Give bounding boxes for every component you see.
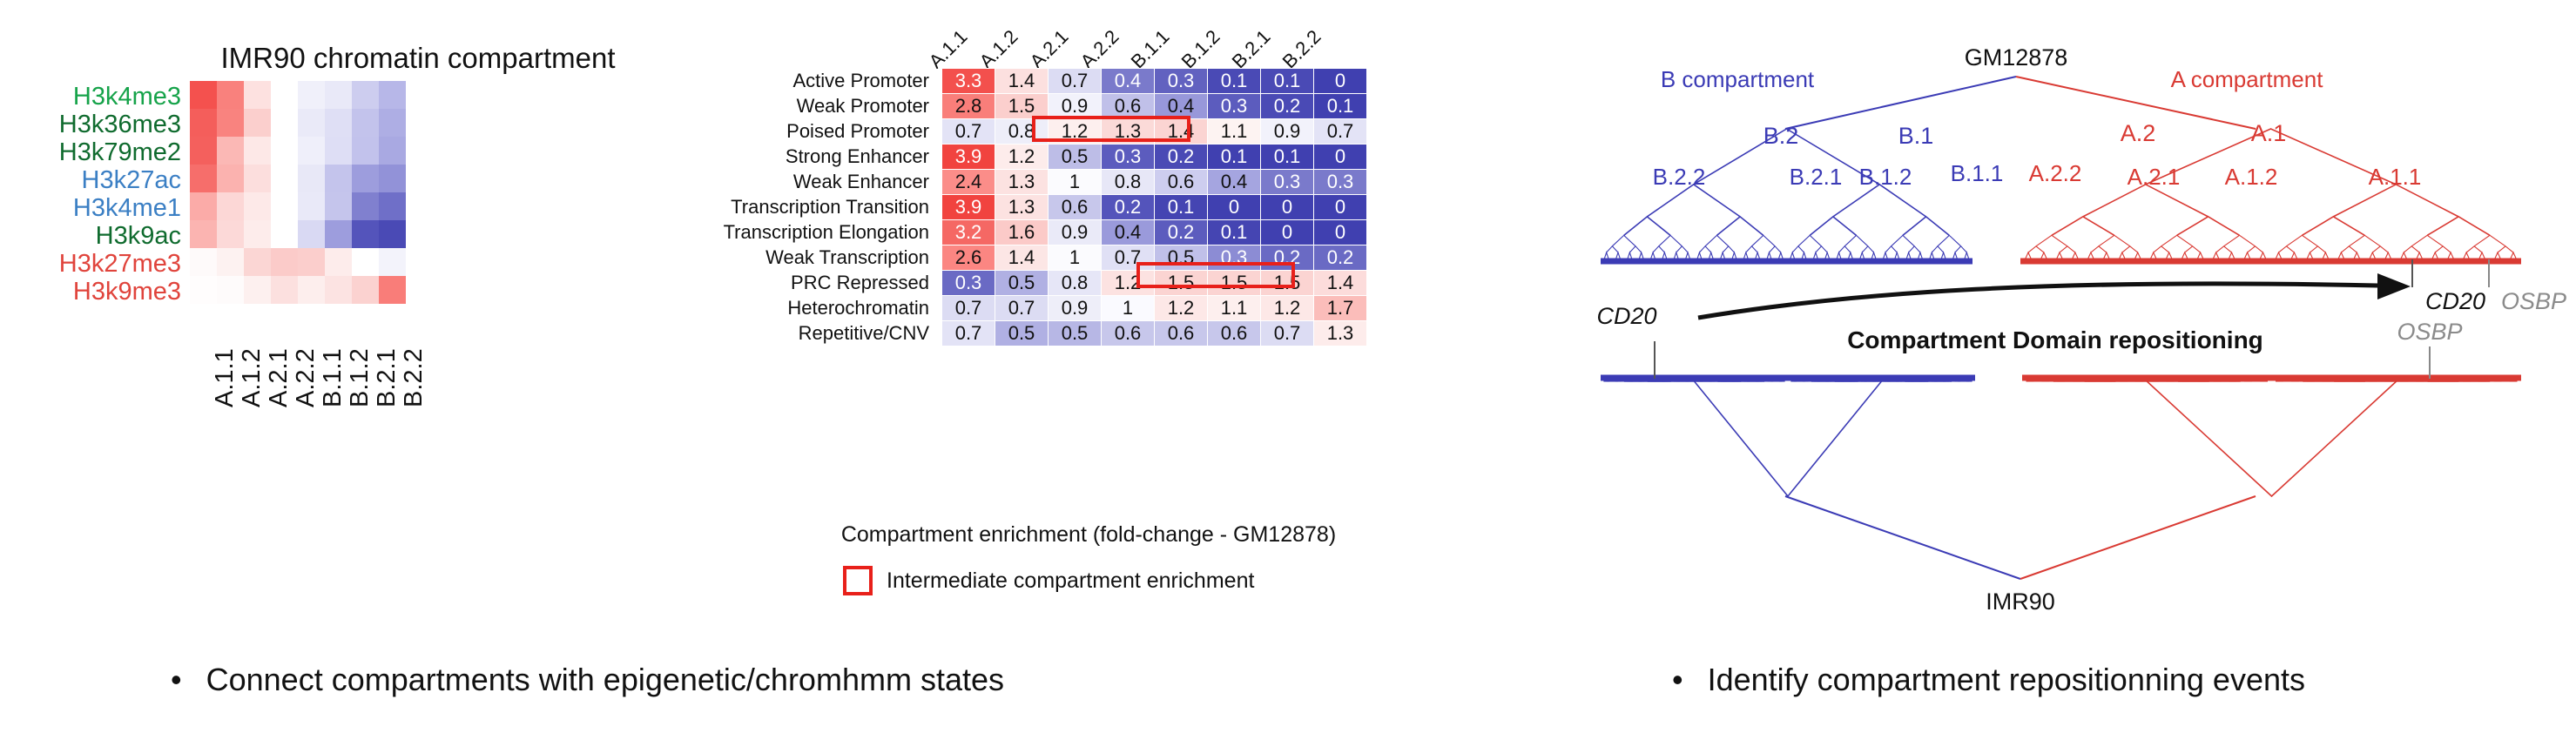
dendrogram-branch [2177,217,2240,235]
table-cell: 0.3 [942,271,995,296]
dendrogram-branch [1798,235,1822,245]
bullet-right-text: Identify compartment repositionning even… [1708,662,2305,698]
heatmap-cell [244,276,271,304]
dendrogram-branch [2278,246,2294,252]
bullet-left-text: Connect compartments with epigenetic/chr… [206,662,1004,698]
table-cell: 1.2 [1155,296,1208,321]
heatmap-col-label-b-1-2: B.1.2 [346,348,374,407]
heatmap-cell [379,220,406,248]
heatmap-cell [217,109,244,137]
node-label-a21: A.2.1 [2128,164,2181,190]
heatmap-cell [379,137,406,165]
table-cell: 0.6 [1102,321,1155,346]
node-label-b12: B.1.2 [1859,164,1912,190]
table-cell: 0.3 [1208,245,1261,271]
heatmap-cell [352,165,379,192]
dendrogram-branch [2154,246,2169,252]
dendrogram-branch [2224,235,2256,245]
dendrogram-branch [1938,235,1961,245]
heatmap-cell [379,248,406,276]
gene-label-osbp-bottom: OSBP [2397,319,2462,345]
heatmap-title: IMR90 chromatin compartment [157,42,679,75]
table-cell: 0.6 [1049,195,1102,220]
heatmap-cell [298,220,325,248]
table-cell: 0.3 [1314,170,1367,195]
repositioning-arrow-head [2377,273,2411,299]
table-row: Poised Promoter0.70.81.21.31.41.10.90.7 [688,119,1367,145]
heatmap-row-label-h3k4me1: H3k4me1 [73,194,181,223]
table-legend: Intermediate compartment enrichment [843,566,1254,595]
dendrogram-branch [2185,246,2201,252]
table-cell: 0 [1261,195,1314,220]
heatmap-cell [217,220,244,248]
table-row: Transcription Transition3.91.30.60.20.10… [688,195,1367,220]
table-cell: 0.7 [1261,321,1314,346]
table-row-label: PRC Repressed [688,271,942,296]
table-row: Weak Enhancer2.41.310.80.60.40.30.3 [688,170,1367,195]
heatmap-cell [325,248,352,276]
table-cell: 2.6 [942,245,995,271]
table-cell: 0.1 [1261,145,1314,170]
heatmap-row-labels: H3k4me3H3k36me3H3k79me2H3k27acH3k4me1H3k… [0,81,181,304]
gene-label-cd20-bottom: CD20 [1596,303,1656,329]
dendrogram-branch [2341,246,2357,252]
dendrogram-branch [1769,246,1780,252]
dendrogram-branch [2099,235,2130,245]
table-cell: 0 [1314,195,1367,220]
table-col-header-a-2-2: A.2.2 [1076,25,1124,73]
heatmap-cell [271,276,298,304]
compartment-enrichment-panel: A.1.1A.1.2A.2.1A.2.2B.1.1B.1.2B.2.1B.2.2… [688,0,1559,627]
table-cell: 0.4 [1102,220,1155,245]
epigenetic-heatmap-panel: IMR90 chromatin compartment H3k4me3H3k36… [0,0,688,627]
heatmap-cell [298,192,325,220]
node-label-a11: A.1.1 [2369,164,2422,190]
heatmap-cell [217,192,244,220]
table-cell: 0.2 [1102,195,1155,220]
heatmap-cell [298,109,325,137]
table-row: PRC Repressed0.30.50.81.21.51.51.51.4 [688,271,1367,296]
enrichment-table-body: Active Promoter3.31.40.70.40.30.10.10Wea… [688,69,1367,346]
table-cell: 0.2 [1314,245,1367,271]
table-cell: 0.4 [1155,94,1208,119]
dendrogram-branch [2411,235,2443,245]
heatmap-cell [352,137,379,165]
table-row-label: Repetitive/CNV [688,321,942,346]
dendrogram-branch [2060,246,2075,252]
table-cell: 3.2 [942,220,995,245]
heatmap-cell [352,220,379,248]
node-label-b2: B.2 [1763,123,1799,149]
table-cell: 0.6 [1155,321,1208,346]
heatmap-row-label-h3k27me3: H3k27me3 [59,250,181,279]
dendrogram-svg: GM12878 B compartment A compartment B.2 … [1568,0,2576,627]
table-cell: 0 [1314,145,1367,170]
table-col-header-a-2-1: A.2.1 [1026,25,1074,73]
dendrogram-branch [1705,235,1729,245]
heatmap-cell [352,81,379,109]
dendrogram-branch [1862,246,1873,252]
table-cell: 0.3 [1155,69,1208,94]
dendrogram-branch [2036,235,2067,245]
table-caption: Compartment enrichment (fold-change - GM… [697,522,1480,548]
heatmap-cell [271,165,298,192]
table-cell: 0.8 [995,119,1049,145]
legend-label: Intermediate compartment enrichment [887,568,1254,594]
node-label-b22: B.2.2 [1653,164,1706,190]
dendrogram-branch [1723,246,1734,252]
table-cell: 0.7 [942,119,995,145]
heatmap-cell [325,81,352,109]
heatmap-col-label-b-2-1: B.2.1 [373,348,401,407]
gene-label-cd20-top: CD20 [2425,288,2485,314]
table-cell: 0.7 [1102,245,1155,271]
table-cell: 1.2 [995,145,1049,170]
heatmap-cell [217,81,244,109]
dendrogram-branch [2216,246,2232,252]
table-row-label: Active Promoter [688,69,942,94]
table-cell: 0.9 [1049,94,1102,119]
dendrogram-branch [2248,246,2263,252]
table-cell: 0.6 [1102,94,1155,119]
heatmap-cell [244,109,271,137]
table-cell: 0.5 [1049,321,1102,346]
dendrogram-branch [1909,246,1920,252]
dendrogram-branch [1751,235,1775,245]
dendrogram-panel: GM12878 B compartment A compartment B.2 … [1568,0,2576,627]
table-cell: 0.9 [1049,220,1102,245]
table-row-label: Weak Promoter [688,94,942,119]
dendrogram-branch [1844,235,1868,245]
heatmap-cell [271,192,298,220]
dendrogram-branch [2349,235,2380,245]
dendrogram-branch [1699,246,1710,252]
dendrogram-branch [1716,217,1763,235]
dendrogram-branch [2372,246,2388,252]
heatmap-cell [352,109,379,137]
dendrogram-inverted-group [1603,381,2517,496]
heatmap-cell [244,248,271,276]
table-cell: 1.4 [1155,119,1208,145]
heatmap-cell [325,137,352,165]
table-cell: 0.2 [1261,245,1314,271]
table-cell: 1.3 [1314,321,1367,346]
dendrogram-branch [2466,246,2482,252]
node-label-b11: B.1.1 [1951,160,2004,186]
dendrogram-branch [1624,217,1670,235]
heatmap-row-label-h3k4me3: H3k4me3 [73,83,181,111]
table-cell: 0.7 [1049,69,1102,94]
enrichment-table: Active Promoter3.31.40.70.40.30.10.10Wea… [688,68,1367,346]
heatmap-row-label-h3k9me3: H3k9me3 [73,278,181,306]
table-row: Active Promoter3.31.40.70.40.30.10.10 [688,69,1367,94]
bullet-marker-icon: • [1672,664,1683,696]
table-cell: 1.5 [1261,271,1314,296]
table-cell: 0.9 [1261,119,1314,145]
dendrogram-branch [1676,246,1688,252]
heatmap-cell [325,220,352,248]
heatmap-cell [190,192,217,220]
heatmap-cell [244,137,271,165]
table-cell: 0.7 [942,296,995,321]
dendrogram-branch [2028,246,2044,252]
dendrogram-branch [1810,217,1856,235]
table-cell: 1.1 [1208,119,1261,145]
table-cell: 1 [1049,245,1102,271]
table-cell: 0.4 [1208,170,1261,195]
table-cell: 0.5 [995,271,1049,296]
dendrogram-branch [1746,246,1757,252]
table-cell: 0.5 [1155,245,1208,271]
heatmap-cell [325,109,352,137]
heatmap-column-labels: A.1.1A.1.2A.2.1A.2.2B.1.1B.1.2B.2.1B.2.2 [190,306,416,420]
table-cell: 0.7 [942,321,995,346]
table-cell: 0.1 [1155,195,1208,220]
bullet-left: • Connect compartments with epigenetic/c… [171,662,1004,698]
heatmap-row-label-h3k79me2: H3k79me2 [59,138,181,167]
table-cell: 2.8 [942,94,995,119]
gene-label-osbp-top: OSBP [2501,288,2566,314]
heatmap-cell [217,276,244,304]
table-cell: 0 [1314,220,1367,245]
table-column-headers: A.1.1A.1.2A.2.1A.2.2B.1.1B.1.2B.2.1B.2.2 [932,9,1498,61]
heatmap-row-label-h3k27ac: H3k27ac [82,166,181,195]
heatmap-cell [244,192,271,220]
node-label-b21: B.2.1 [1790,164,1843,190]
table-col-header-b-2-2: B.2.2 [1278,25,1326,73]
table-cell: 1.4 [995,69,1049,94]
dendrogram-branch [2435,246,2451,252]
table-cell: 1.2 [1049,119,1102,145]
table-row-label: Transcription Transition [688,195,942,220]
dendrogram-branch [1892,235,1915,245]
table-cell: 0 [1208,195,1261,220]
table-cell: 0 [1261,220,1314,245]
table-cell: 0.6 [1208,321,1261,346]
table-cell: 0.8 [1049,271,1102,296]
b-compartment-label: B compartment [1661,66,1815,92]
table-row-label: Poised Promoter [688,119,942,145]
heatmap-col-label-a-2-1: A.2.1 [265,348,293,407]
table-row-label: Weak Enhancer [688,170,942,195]
heatmap-cell [298,248,325,276]
dendrogram-branch [2474,235,2505,245]
table-row: Transcription Elongation3.21.60.90.40.20… [688,220,1367,245]
table-cell: 0.9 [1049,296,1102,321]
heatmap-cell [379,81,406,109]
node-label-a2: A.2 [2121,120,2156,146]
imr90-dendrogram [1601,378,2521,579]
table-row: Weak Promoter2.81.50.90.60.40.30.20.1 [688,94,1367,119]
heatmap-cell [379,109,406,137]
bullet-right: • Identify compartment repositionning ev… [1672,662,2305,698]
dendrogram-branch [1955,246,1966,252]
repositioning-arrow-path [1698,284,2377,318]
heatmap-cell [190,165,217,192]
dendrogram-branch [1607,246,1618,252]
table-cell: 1 [1102,296,1155,321]
table-cell: 3.9 [942,145,995,170]
table-cell: 0.2 [1155,220,1208,245]
imr90-root-label: IMR90 [1986,588,2055,615]
table-cell: 1.7 [1314,296,1367,321]
table-cell: 1.6 [995,220,1049,245]
heatmap-cell [217,248,244,276]
table-cell: 0.3 [1261,170,1314,195]
dendrogram-branch [2147,381,2397,496]
heatmap-cell [325,165,352,192]
repositioning-arrow-label: Compartment Domain repositioning [1847,326,2263,353]
a-compartment-label: A compartment [2171,66,2324,92]
table-cell: 2.4 [942,170,995,195]
table-cell: 0.2 [1261,94,1314,119]
gm12878-root-label: GM12878 [1965,44,2068,71]
table-cell: 1.3 [1102,119,1155,145]
node-label-a22: A.2.2 [2029,160,2082,186]
heatmap-cell [298,137,325,165]
heatmap-cell [244,81,271,109]
table-cell: 0.7 [1314,119,1367,145]
table-cell: 1.4 [995,245,1049,271]
dendrogram-branch [1885,246,1897,252]
dendrogram-branch [1839,246,1851,252]
dendrogram-branch [2404,246,2419,252]
dendrogram-branch [2286,235,2317,245]
dendrogram-branch [2498,246,2513,252]
dendrogram-branch [2122,246,2138,252]
heatmap-cell [244,165,271,192]
heatmap-cell [190,248,217,276]
table-cell: 0.3 [1102,145,1155,170]
bullet-marker-icon: • [171,664,182,696]
heatmap-cell [190,220,217,248]
heatmap-col-label-b-1-1: B.1.1 [319,348,347,407]
table-cell: 0.6 [1155,170,1208,195]
heatmap-cell [190,81,217,109]
node-label-b1: B.1 [1898,123,1934,149]
heatmap-col-label-a-1-1: A.1.1 [211,348,239,407]
heatmap-col-label-a-2-2: A.2.2 [292,348,320,407]
dendrogram-branch [1612,235,1635,245]
dendrogram-branch [1932,246,1943,252]
dendrogram-root-branch [2020,496,2256,579]
dendrogram-branch [2091,246,2107,252]
heatmap-col-label-a-1-2: A.1.2 [238,348,266,407]
dendrogram-branch [1629,246,1641,252]
table-cell: 0.7 [995,296,1049,321]
table-col-header-a-1-1: A.1.1 [925,25,973,73]
heatmap-cell [271,109,298,137]
heatmap-cell [217,137,244,165]
heatmap-cell [190,109,217,137]
dendrogram-branch [2161,235,2193,245]
heatmap-cell [217,165,244,192]
heatmap-col-label-b-2-2: B.2.2 [400,348,428,407]
table-cell: 0.1 [1208,220,1261,245]
heatmap-cell [190,137,217,165]
table-cell: 3.3 [942,69,995,94]
table-cell: 0.2 [1155,145,1208,170]
dendrogram-branch [1816,246,1827,252]
heatmap-row-label-h3k36me3: H3k36me3 [59,111,181,139]
heatmap-cell [325,192,352,220]
heatmap-cell [271,81,298,109]
heatmap-cell [271,137,298,165]
dendrogram-root-branch [1785,496,2020,579]
table-cell: 0.1 [1208,69,1261,94]
heatmap-cell [325,276,352,304]
node-label-a12: A.1.2 [2225,164,2278,190]
dendrogram-branch [2310,246,2325,252]
table-cell: 0.3 [1208,94,1261,119]
heatmap-grid-wrapper [190,81,406,304]
dendrogram-branch [1653,246,1664,252]
table-row-label: Heterochromatin [688,296,942,321]
heatmap-cell [298,165,325,192]
heatmap-cell [298,81,325,109]
table-cell: 1.5 [995,94,1049,119]
table-cell: 1 [1049,170,1102,195]
table-cell: 0.8 [1102,170,1155,195]
table-col-header-b-1-2: B.1.2 [1177,25,1225,73]
table-cell: 1.2 [1261,296,1314,321]
table-col-header-b-2-1: B.2.1 [1228,25,1276,73]
heatmap-cell [244,220,271,248]
dendrogram-branch [1792,246,1804,252]
table-cell: 1.5 [1155,271,1208,296]
table-row: Repetitive/CNV0.70.50.50.60.60.60.71.3 [688,321,1367,346]
dendrogram-branch [2427,217,2490,235]
table-cell: 1.4 [1314,271,1367,296]
heatmap-cell [271,220,298,248]
table-row-label: Strong Enhancer [688,145,942,170]
heatmap-cell [190,276,217,304]
table-row-label: Weak Transcription [688,245,942,271]
table-row-label: Transcription Elongation [688,220,942,245]
table-cell: 0.1 [1314,94,1367,119]
table-cell: 1.3 [995,170,1049,195]
heatmap-cell [379,276,406,304]
table-cell: 0.1 [1261,69,1314,94]
dendrogram-root-branch [1785,77,2016,129]
heatmap-cell [352,248,379,276]
heatmap-cell [271,248,298,276]
table-cell: 1.5 [1208,271,1261,296]
table-col-header-b-1-1: B.1.1 [1127,25,1175,73]
table-cell: 0.5 [995,321,1049,346]
table-cell: 0.5 [1049,145,1102,170]
heatmap-row-label-h3k9ac: H3k9ac [96,222,181,251]
table-cell: 1.1 [1208,296,1261,321]
table-cell: 1.3 [995,195,1049,220]
heatmap-cell [352,192,379,220]
heatmap-cell [379,165,406,192]
dendrogram-branch [1695,381,1882,496]
dendrogram-branch [2052,217,2114,235]
heatmap-cell [352,276,379,304]
table-row: Heterochromatin0.70.70.911.21.11.21.7 [688,296,1367,321]
table-cell: 0.1 [1208,145,1261,170]
dendrogram-branch [2302,217,2364,235]
table-cell: 3.9 [942,195,995,220]
node-label-a1: A.1 [2251,120,2287,146]
table-cell: 1.2 [1102,271,1155,296]
table-row: Weak Transcription2.61.410.70.50.30.20.2 [688,245,1367,271]
dendrogram-branch [1659,235,1682,245]
table-cell: 0.4 [1102,69,1155,94]
heatmap-grid [190,81,406,304]
dendrogram-branch [1903,217,1949,235]
